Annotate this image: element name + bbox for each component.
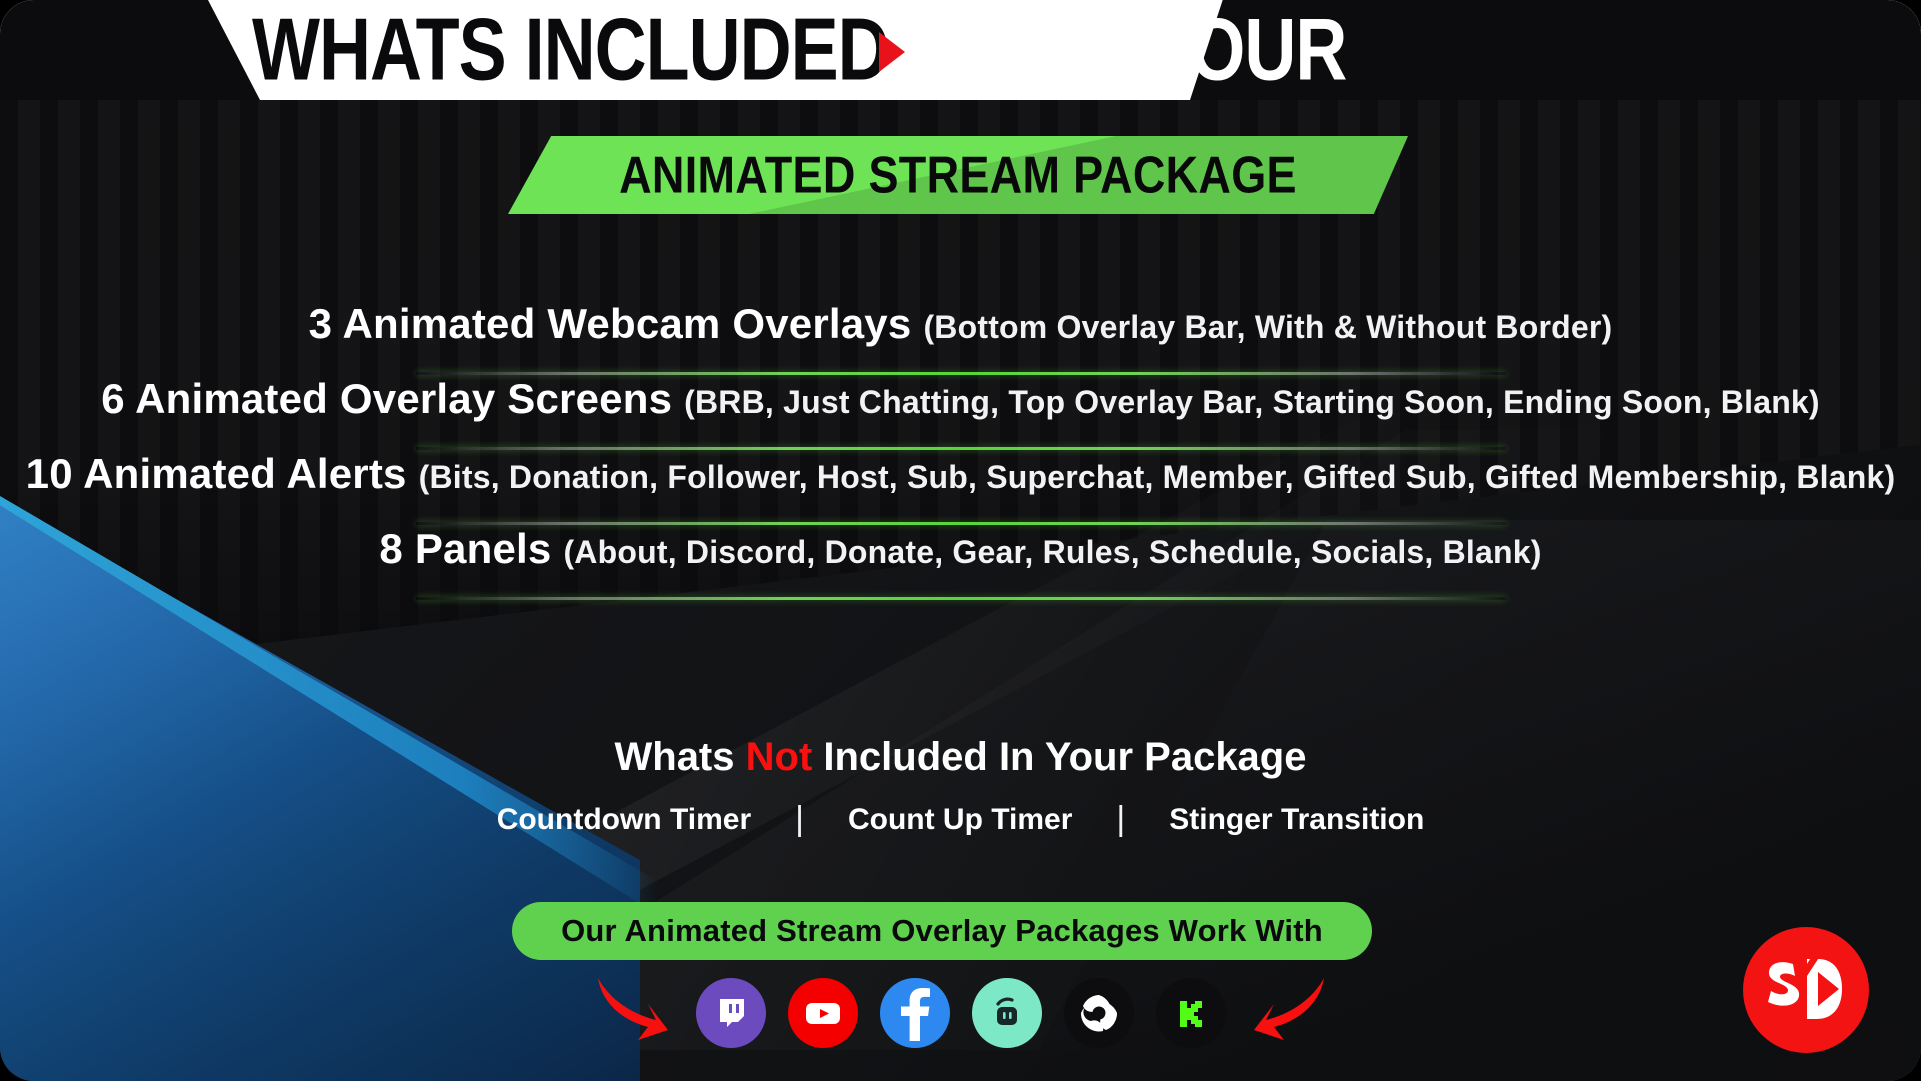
feature-row: 3 Animated Webcam Overlays (Bottom Overl… xyxy=(0,300,1921,372)
not-included-section: Whats Not Included In Your Package Count… xyxy=(0,735,1921,839)
feature-list: 3 Animated Webcam Overlays (Bottom Overl… xyxy=(0,300,1921,600)
feature-title: 8 Panels xyxy=(379,525,551,573)
facebook-icon[interactable] xyxy=(880,978,950,1048)
platform-icon-row xyxy=(0,970,1921,1056)
promo-canvas: WHATS INCLUDED IN YOUR ANIMATED STREAM P… xyxy=(0,0,1921,1081)
feature-row: 8 Panels (About, Discord, Donate, Gear, … xyxy=(0,525,1921,597)
play-triangle-icon xyxy=(879,32,905,72)
obs-icon[interactable] xyxy=(1064,978,1134,1048)
not-included-title: Whats Not Included In Your Package xyxy=(0,735,1921,780)
feature-detail: (BRB, Just Chatting, Top Overlay Bar, St… xyxy=(684,384,1820,421)
not-included-title-highlight: Not xyxy=(746,735,813,779)
animated-stream-package-label: ANIMATED STREAM PACKAGE xyxy=(619,145,1297,205)
sd-logo-icon xyxy=(1743,927,1869,1053)
feature-title: 3 Animated Webcam Overlays xyxy=(309,300,912,348)
feature-divider xyxy=(416,597,1506,600)
feature-title: 10 Animated Alerts xyxy=(26,450,407,498)
not-included-separator: | xyxy=(795,800,804,839)
curved-arrow-right-icon xyxy=(588,970,674,1056)
streamlabs-icon[interactable] xyxy=(972,978,1042,1048)
twitch-icon[interactable] xyxy=(696,978,766,1048)
feature-detail: (Bottom Overlay Bar, With & Without Bord… xyxy=(923,309,1612,346)
animated-stream-package-banner: ANIMATED STREAM PACKAGE xyxy=(508,136,1408,214)
not-included-title-before: Whats xyxy=(615,735,746,779)
feature-row: 10 Animated Alerts (Bits, Donation, Foll… xyxy=(0,450,1921,522)
works-with-banner: Our Animated Stream Overlay Packages Wor… xyxy=(512,902,1372,960)
not-included-title-after: Included In Your Package xyxy=(812,735,1306,779)
feature-detail: (About, Discord, Donate, Gear, Rules, Sc… xyxy=(563,534,1541,571)
not-included-item-stinger-transition: Stinger Transition xyxy=(1125,803,1468,837)
not-included-separator: | xyxy=(1116,800,1125,839)
feature-detail: (Bits, Donation, Follower, Host, Sub, Su… xyxy=(419,459,1896,496)
curved-arrow-left-icon xyxy=(1248,970,1334,1056)
header-title-included: WHATS INCLUDED xyxy=(252,6,889,94)
feature-title: 6 Animated Overlay Screens xyxy=(101,375,672,423)
not-included-item-count-up-timer: Count Up Timer xyxy=(804,803,1116,837)
works-with-label: Our Animated Stream Overlay Packages Wor… xyxy=(561,913,1323,949)
not-included-items: Countdown Timer | Count Up Timer | Sting… xyxy=(0,800,1921,839)
youtube-icon[interactable] xyxy=(788,978,858,1048)
feature-row: 6 Animated Overlay Screens (BRB, Just Ch… xyxy=(0,375,1921,447)
header-title-group: WHATS INCLUDED IN YOUR xyxy=(0,0,1921,100)
not-included-item-countdown-timer: Countdown Timer xyxy=(453,803,795,837)
header-banner: WHATS INCLUDED IN YOUR xyxy=(0,0,1921,100)
header-title-in-your: IN YOUR xyxy=(1055,6,1347,94)
kick-icon[interactable] xyxy=(1156,978,1226,1048)
